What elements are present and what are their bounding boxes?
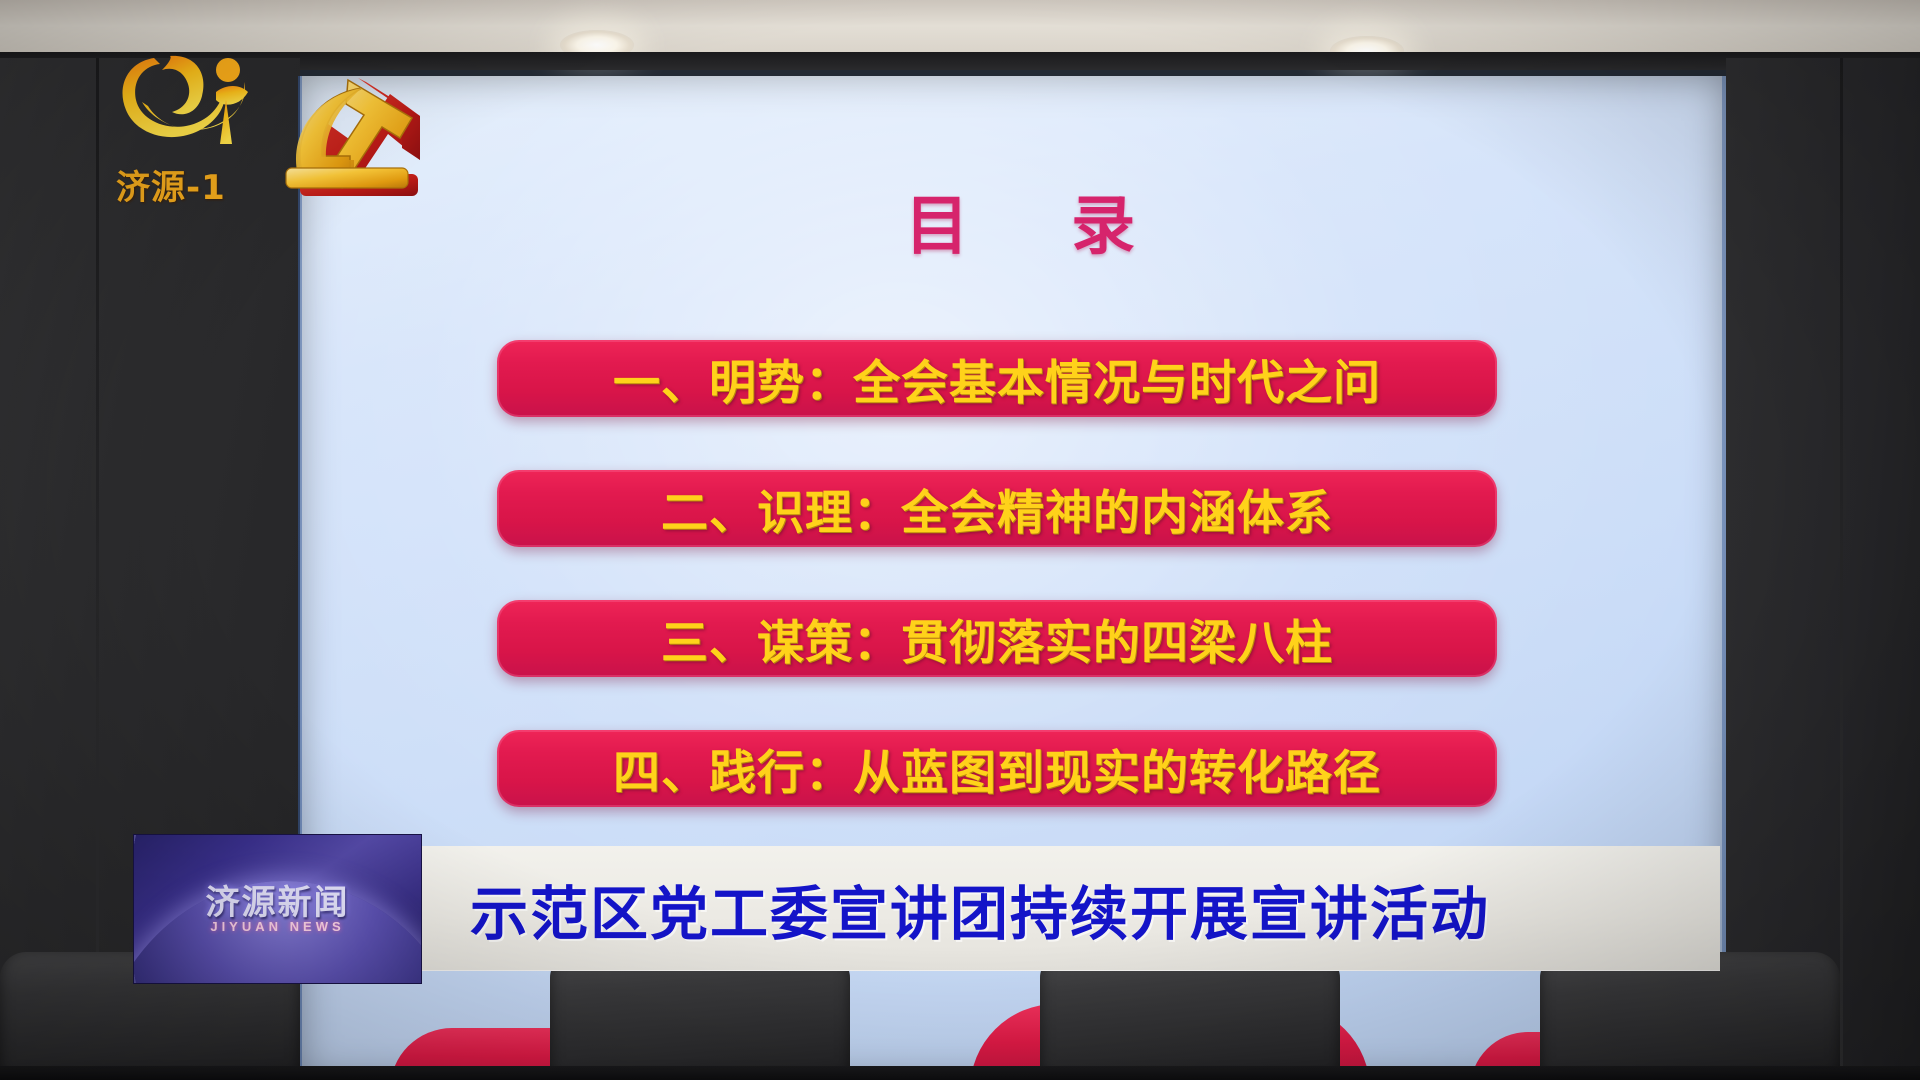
toc-item-label: 一、明势：全会基本情况与时代之问: [613, 344, 1381, 413]
channel-watermark-label: 济源-1: [116, 160, 306, 209]
wall-panel-right: [1726, 58, 1920, 1080]
toc-item[interactable]: 二、识理：全会精神的内涵体系: [497, 470, 1497, 547]
toc-item-label: 四、践行：从蓝图到现实的转化路径: [613, 734, 1381, 803]
broadcast-frame: 目 录 一、明势：全会基本情况与时代之问 二、识理：全会精神的内涵体系 三、谋策…: [0, 0, 1920, 1080]
chair-back: [550, 952, 850, 1080]
wall-seam: [1840, 58, 1843, 1080]
chair-back: [1540, 952, 1840, 1080]
wall-seam: [96, 58, 99, 1080]
screen-bezel-right: [1722, 76, 1726, 1080]
program-logo-cn: 济源新闻: [134, 875, 421, 924]
toc-item-label: 二、识理：全会精神的内涵体系: [661, 474, 1333, 543]
channel-watermark: 济源-1: [112, 48, 342, 213]
chair-rail: [0, 1066, 1920, 1080]
toc-item[interactable]: 四、践行：从蓝图到现实的转化路径: [497, 730, 1497, 807]
lower-third-headline: 示范区党工委宣讲团持续开展宣讲活动: [470, 866, 1680, 952]
chair-back: [1040, 952, 1340, 1080]
toc-item-label: 三、谋策：贯彻落实的四梁八柱: [661, 604, 1333, 673]
jiyuan-swirl-logo-icon: [112, 48, 287, 170]
slide-toc-list: 一、明势：全会基本情况与时代之问 二、识理：全会精神的内涵体系 三、谋策：贯彻落…: [497, 340, 1497, 860]
program-logo-en: JIYUAN NEWS: [134, 919, 421, 934]
slide-title: 目 录: [770, 175, 1270, 267]
toc-item[interactable]: 三、谋策：贯彻落实的四梁八柱: [497, 600, 1497, 677]
program-logo-box: 济源新闻 JIYUAN NEWS: [133, 834, 422, 984]
toc-item[interactable]: 一、明势：全会基本情况与时代之问: [497, 340, 1497, 417]
